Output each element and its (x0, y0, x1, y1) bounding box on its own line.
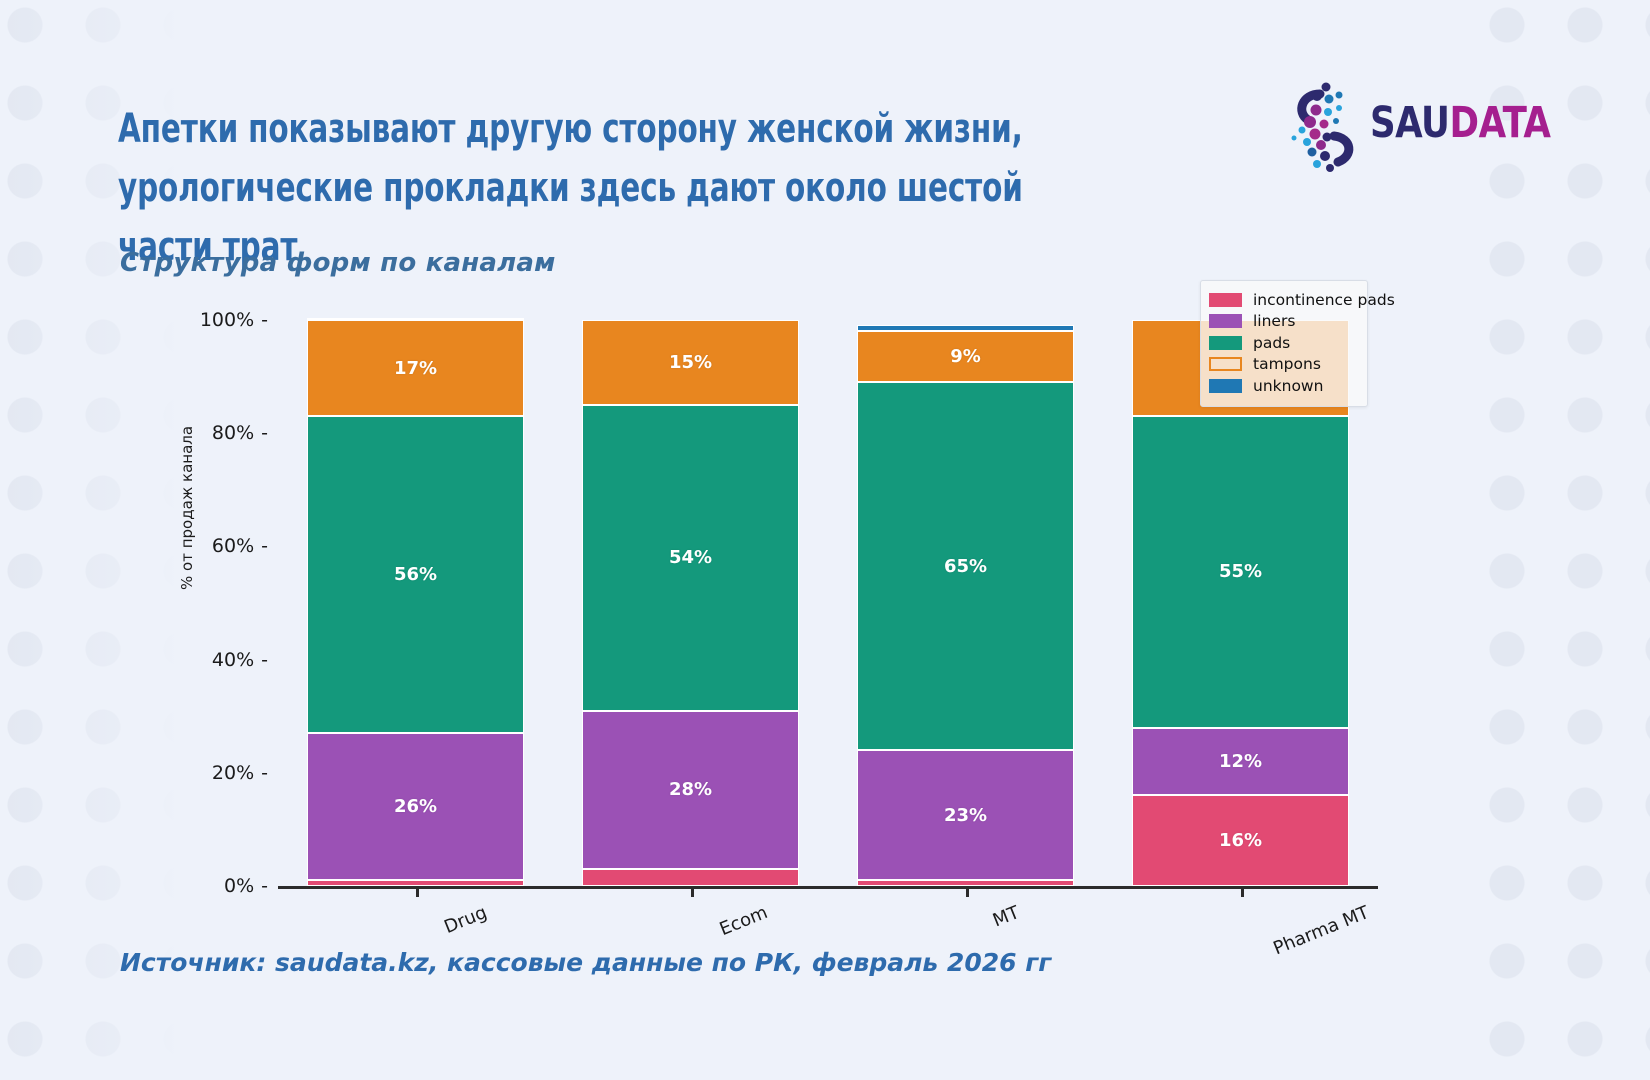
legend-item[interactable]: liners (1209, 311, 1357, 333)
bar-column[interactable]: 23%65%9% (857, 320, 1074, 886)
bar-segment-value: 23% (944, 805, 987, 826)
x-axis-tick-label: Ecom (716, 902, 770, 940)
legend-swatch-icon (1209, 314, 1242, 328)
x-axis-line (278, 886, 1378, 889)
y-axis-tick-label: 20%- (212, 762, 268, 784)
bar-segment[interactable]: 56% (307, 416, 524, 733)
bar-segment-value: 17% (394, 358, 437, 379)
bar-segment-value: 65% (944, 556, 987, 577)
legend-swatch-icon (1209, 379, 1242, 393)
bar-segment[interactable]: 28% (582, 711, 799, 869)
bar-segment-value: 26% (394, 796, 437, 817)
legend-item-label: incontinence pads (1253, 291, 1395, 309)
bar-segment[interactable] (582, 869, 799, 886)
x-axis-tick-mark (416, 886, 419, 897)
legend-item[interactable]: incontinence pads (1209, 289, 1357, 311)
page-subtitle: Структура форм по каналам (120, 248, 556, 278)
y-axis-tick-label: 0%- (224, 875, 268, 897)
x-axis-tick-label: MT (989, 902, 1021, 931)
legend-swatch-icon (1209, 293, 1242, 307)
saudata-logo: SAUDATA (1282, 82, 1532, 174)
legend-item-label: tampons (1253, 355, 1321, 373)
logo-wordmark: SAUDATA (1370, 98, 1550, 148)
bar-segment[interactable]: 55% (1132, 416, 1349, 727)
bar-segment[interactable]: 65% (857, 382, 1074, 750)
y-axis-tick-label: 100%- (200, 309, 268, 331)
legend-swatch-icon (1209, 357, 1242, 371)
bar-column[interactable]: 26%56%17% (307, 320, 524, 886)
bar-segment[interactable]: 15% (582, 320, 799, 405)
bar-segment[interactable]: 9% (857, 331, 1074, 382)
bar-segment-value: 28% (669, 779, 712, 800)
bar-segment-value: 16% (1219, 830, 1262, 851)
bar-segment-value: 15% (669, 352, 712, 373)
bar-segment[interactable]: 54% (582, 405, 799, 711)
bar-segment[interactable] (857, 325, 1074, 332)
logo-text-sau: SAU (1370, 98, 1449, 148)
x-axis-tick-mark (691, 886, 694, 897)
x-axis-tick-mark (1241, 886, 1244, 897)
legend-item-label: liners (1253, 312, 1295, 330)
logo-mark-icon (1282, 82, 1372, 174)
bar-segment[interactable]: 23% (857, 750, 1074, 880)
legend-item-label: unknown (1253, 377, 1323, 395)
y-axis-tick-label: 80%- (212, 422, 268, 444)
bar-column[interactable]: 28%54%15% (582, 320, 799, 886)
chart-legend[interactable]: incontinence padslinerspadstamponsunknow… (1200, 280, 1368, 407)
bar-segment[interactable]: 17% (307, 320, 524, 416)
legend-item-label: pads (1253, 334, 1290, 352)
bar-segment-value: 56% (394, 564, 437, 585)
x-axis-tick-label: Pharma MT (1270, 902, 1372, 959)
legend-item[interactable]: unknown (1209, 375, 1357, 397)
bar-segment-value: 54% (669, 547, 712, 568)
x-axis-tick-mark (966, 886, 969, 897)
source-note: Источник: saudata.kz, кассовые данные по… (120, 948, 1051, 977)
legend-item[interactable]: pads (1209, 332, 1357, 354)
x-axis-tick-label: Drug (441, 902, 490, 938)
bar-segment-value: 9% (950, 346, 981, 367)
y-axis-tick-label: 60%- (212, 535, 268, 557)
bar-segment[interactable] (307, 318, 524, 320)
legend-swatch-icon (1209, 336, 1242, 350)
y-axis-tick-label: 40%- (212, 649, 268, 671)
legend-item[interactable]: tampons (1209, 354, 1357, 376)
bar-segment[interactable]: 26% (307, 733, 524, 880)
bar-segment[interactable]: 12% (1132, 728, 1349, 796)
bar-segment-value: 12% (1219, 751, 1262, 772)
bar-segment-value: 55% (1219, 561, 1262, 582)
bar-segment[interactable]: 16% (1132, 795, 1349, 886)
y-axis-title: % от продаж канала (178, 426, 196, 590)
logo-text-data: DATA (1449, 98, 1550, 148)
